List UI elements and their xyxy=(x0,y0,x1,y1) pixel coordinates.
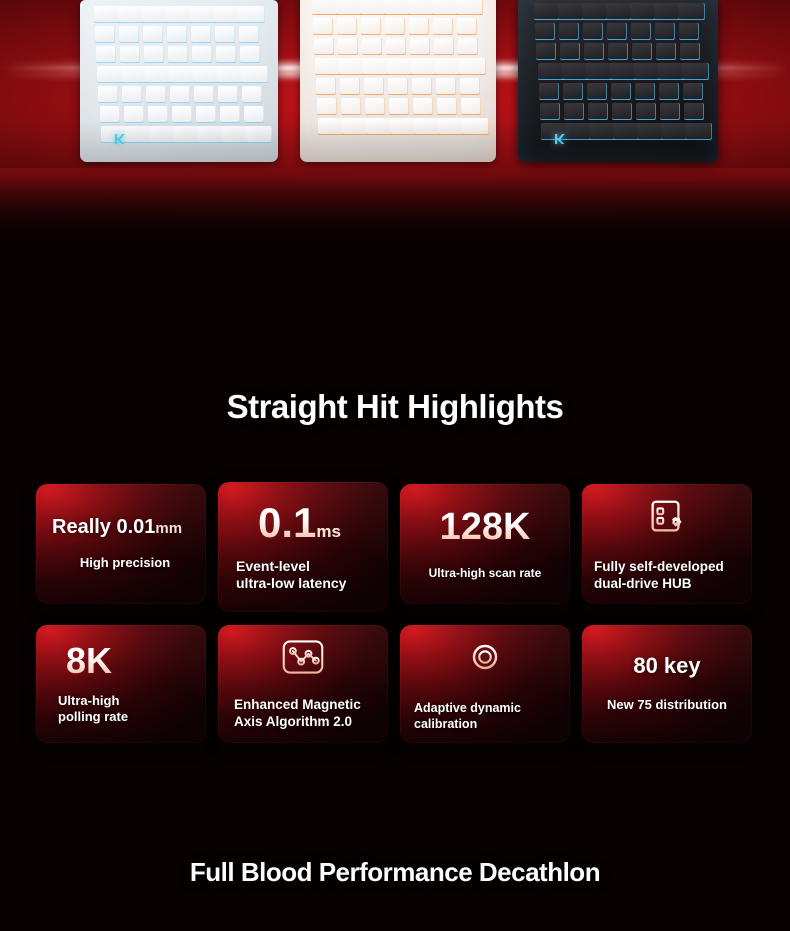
keycap xyxy=(634,63,661,79)
keycap xyxy=(362,38,382,54)
keycap xyxy=(432,0,459,14)
keycap xyxy=(412,78,432,94)
node-graph-icon xyxy=(281,638,325,681)
highlight-card-key-count[interactable]: 80 key New 75 distribution xyxy=(582,625,752,743)
checklist-gear-icon xyxy=(645,496,687,543)
keycap xyxy=(191,26,211,42)
keycap xyxy=(584,43,604,59)
keycap xyxy=(435,58,462,74)
keycap xyxy=(660,103,680,119)
highlight-card-calibration[interactable]: Adaptive dynamiccalibration xyxy=(400,625,570,743)
keycap xyxy=(97,66,124,82)
keycap xyxy=(457,18,477,34)
keycap xyxy=(363,58,390,74)
keycap xyxy=(190,6,217,22)
keycap xyxy=(456,0,483,14)
keycap xyxy=(534,3,561,19)
keycap xyxy=(312,0,339,14)
keycap xyxy=(684,103,704,119)
keycap xyxy=(241,66,268,82)
keycap xyxy=(121,66,148,82)
stat-value: 8K xyxy=(66,643,112,679)
keycap xyxy=(340,78,360,94)
keycap xyxy=(218,86,238,102)
card-caption: Adaptive dynamiccalibration xyxy=(414,701,521,732)
stat-value: Really 0.01mm xyxy=(52,517,182,537)
card-caption: New 75 distribution xyxy=(607,697,727,713)
keycap xyxy=(607,23,627,39)
keycap xyxy=(606,3,633,19)
keycap xyxy=(558,3,585,19)
stat-value: 80 key xyxy=(633,655,700,677)
keycap xyxy=(658,63,685,79)
keycap xyxy=(539,83,559,99)
keycap xyxy=(434,38,454,54)
keycap xyxy=(458,38,478,54)
keycap xyxy=(564,103,584,119)
keycap xyxy=(408,0,435,14)
keycap xyxy=(96,46,116,62)
card-caption: Ultra-highpolling rate xyxy=(58,693,128,726)
keycap xyxy=(656,43,676,59)
keycap xyxy=(119,26,139,42)
keycap xyxy=(413,98,433,114)
keycap xyxy=(240,46,260,62)
keycap xyxy=(409,18,429,34)
keycap xyxy=(387,58,414,74)
keycap xyxy=(562,63,589,79)
card-caption: Ultra-high scan rate xyxy=(429,566,542,581)
keycap xyxy=(145,66,172,82)
keycap xyxy=(315,58,342,74)
keycap xyxy=(631,23,651,39)
keycap xyxy=(680,43,700,59)
keycap xyxy=(636,103,656,119)
keycap xyxy=(364,78,384,94)
keycap xyxy=(217,66,244,82)
keycap xyxy=(122,86,142,102)
highlight-card-precision[interactable]: Really 0.01mm High precision xyxy=(36,484,206,604)
highlight-card-hub[interactable]: Fully self-developeddual-drive HUB xyxy=(582,484,752,604)
card-caption: Fully self-developeddual-drive HUB xyxy=(594,559,724,593)
keycap xyxy=(216,46,236,62)
stat-value: 0.1ms xyxy=(258,502,341,544)
keycap xyxy=(194,86,214,102)
keycap xyxy=(242,86,262,102)
keycap xyxy=(632,43,652,59)
hero-bottom-fade xyxy=(0,120,790,250)
keycap xyxy=(659,83,679,99)
keycap xyxy=(683,83,703,99)
keycap xyxy=(317,98,337,114)
keycap xyxy=(610,63,637,79)
keycap xyxy=(678,3,705,19)
keycap xyxy=(460,78,480,94)
keycap xyxy=(588,103,608,119)
keycap xyxy=(169,66,196,82)
keycap xyxy=(611,83,631,99)
keycap xyxy=(433,18,453,34)
keycap xyxy=(630,3,657,19)
keycap xyxy=(120,46,140,62)
page-title: Straight Hit Highlights xyxy=(0,388,790,426)
keycap xyxy=(239,26,259,42)
keycap xyxy=(587,83,607,99)
keycap xyxy=(193,66,220,82)
keycap xyxy=(436,78,456,94)
keycap xyxy=(146,86,166,102)
card-caption: Event-levelultra-low latency xyxy=(236,558,346,593)
keycap xyxy=(341,98,361,114)
keycap xyxy=(167,26,187,42)
keycap xyxy=(98,86,118,102)
highlight-card-scan-rate[interactable]: 128K Ultra-high scan rate xyxy=(400,484,570,604)
keycap xyxy=(214,6,241,22)
keycap xyxy=(170,86,190,102)
keycap xyxy=(560,43,580,59)
keycap xyxy=(410,38,430,54)
keycap xyxy=(360,0,387,14)
keycap xyxy=(459,58,486,74)
stat-unit: ms xyxy=(316,522,341,541)
keycap xyxy=(679,23,699,39)
keycap xyxy=(144,46,164,62)
highlights-row-2: 8K Ultra-highpolling rate xyxy=(36,625,754,755)
keycap xyxy=(215,26,235,42)
highlight-card-magnetic-axis[interactable]: Enhanced MagneticAxis Algorithm 2.0 xyxy=(218,625,388,743)
keycap xyxy=(411,58,438,74)
keycap xyxy=(338,38,358,54)
highlights-row-1: Really 0.01mm High precision 0.1ms Event… xyxy=(36,484,754,614)
stat-value: 128K xyxy=(440,508,531,546)
hero-product-banner: K K xyxy=(0,0,790,250)
keycap xyxy=(654,3,681,19)
keycap xyxy=(635,83,655,99)
keycap xyxy=(386,38,406,54)
keycap xyxy=(563,83,583,99)
keycap xyxy=(118,6,145,22)
keycap xyxy=(238,6,265,22)
keycap xyxy=(536,43,556,59)
keycap xyxy=(143,26,163,42)
keycap xyxy=(95,26,115,42)
highlight-card-polling-rate[interactable]: 8K Ultra-highpolling rate xyxy=(36,625,206,743)
keycap xyxy=(655,23,675,39)
card-caption: Enhanced MagneticAxis Algorithm 2.0 xyxy=(234,697,361,731)
keycap xyxy=(94,6,121,22)
keycap xyxy=(388,78,408,94)
keycap xyxy=(336,0,363,14)
keycap xyxy=(361,18,381,34)
keycap xyxy=(583,23,603,39)
keycap xyxy=(608,43,628,59)
keycap xyxy=(365,98,385,114)
crosshair-target-icon xyxy=(464,636,506,683)
keycap xyxy=(337,18,357,34)
keycap xyxy=(538,63,565,79)
keycap xyxy=(540,103,560,119)
keycap xyxy=(586,63,613,79)
highlight-card-latency[interactable]: 0.1ms Event-levelultra-low latency xyxy=(218,482,388,612)
keycap xyxy=(166,6,193,22)
keycap xyxy=(316,78,336,94)
card-caption: High precision xyxy=(80,555,170,571)
section-subtitle: Full Blood Performance Decathlon xyxy=(0,857,790,888)
keycap xyxy=(314,38,334,54)
keycap xyxy=(313,18,333,34)
keycap xyxy=(339,58,366,74)
highlights-grid: Really 0.01mm High precision 0.1ms Event… xyxy=(36,484,754,755)
keycap xyxy=(384,0,411,14)
keycap xyxy=(535,23,555,39)
keycap xyxy=(559,23,579,39)
keycap xyxy=(142,6,169,22)
keycap xyxy=(582,3,609,19)
stat-unit: mm xyxy=(155,520,182,537)
product-feature-page: K K Straight Hit Highlights Really 0.01m… xyxy=(0,0,790,931)
keycap xyxy=(612,103,632,119)
keycap xyxy=(192,46,212,62)
keycap xyxy=(389,98,409,114)
keycap xyxy=(437,98,457,114)
keycap xyxy=(461,98,481,114)
keycap xyxy=(385,18,405,34)
keycap xyxy=(168,46,188,62)
keycap xyxy=(682,63,709,79)
